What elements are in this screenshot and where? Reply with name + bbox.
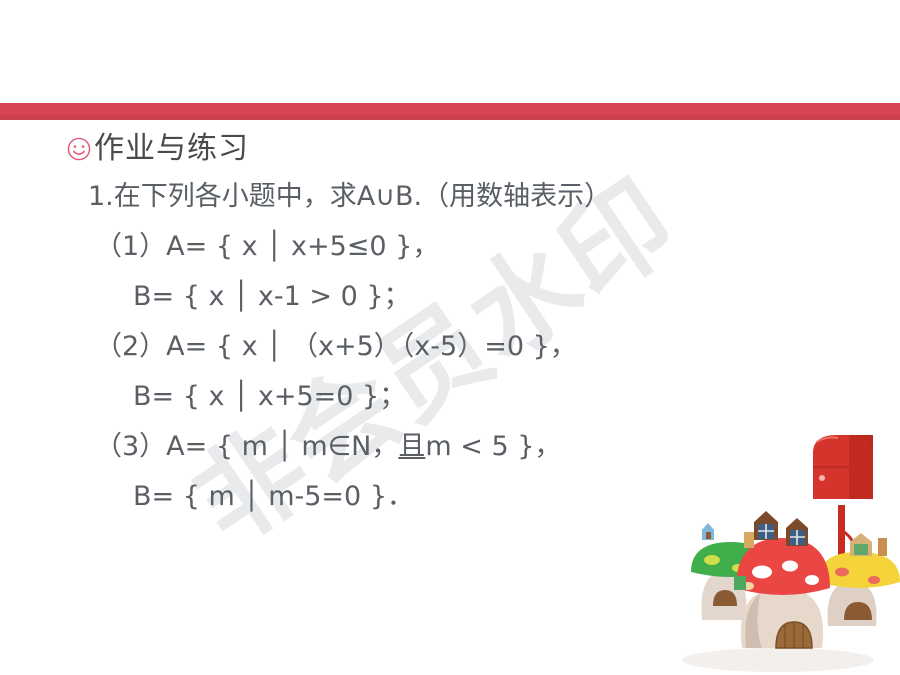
question-stem: 1.在下列各小题中，求A∪B.（用数轴表示）: [0, 172, 900, 222]
slide-body: 作业与练习 1.在下列各小题中，求A∪B.（用数轴表示） （1）A= { x │…: [0, 126, 900, 522]
slide-canvas: 非会员水印 作业与练习 1.在下列各小题中，求A∪B.（用数轴表示） （1）A=…: [0, 0, 900, 675]
slide-title-row: 作业与练习: [0, 126, 900, 172]
item-3-set-a: （3）A= { m │ m∈N，且m < 5 }，: [0, 422, 900, 472]
emphasis-underline: 且: [398, 431, 425, 462]
yellow-mushroom-house: [818, 533, 900, 626]
item-1-set-b: B= { x │ x-1 > 0 }；: [0, 272, 900, 322]
item-2-set-b: B= { x │ x+5=0 }；: [0, 372, 900, 422]
accent-divider-shadow: [0, 115, 900, 120]
item-2-set-a: （2）A= { x │ （x+5）（x-5）=0 }，: [0, 322, 900, 372]
page-title: 作业与练习: [94, 134, 249, 164]
smiley-face-icon: [66, 136, 92, 162]
ground-shadow: [682, 648, 874, 672]
red-mushroom-house: [734, 511, 830, 648]
item-3-set-b: B= { m │ m-5=0 }．: [0, 472, 900, 522]
item-1-set-a: （1）A= { x │ x+5≤0 }，: [0, 222, 900, 272]
